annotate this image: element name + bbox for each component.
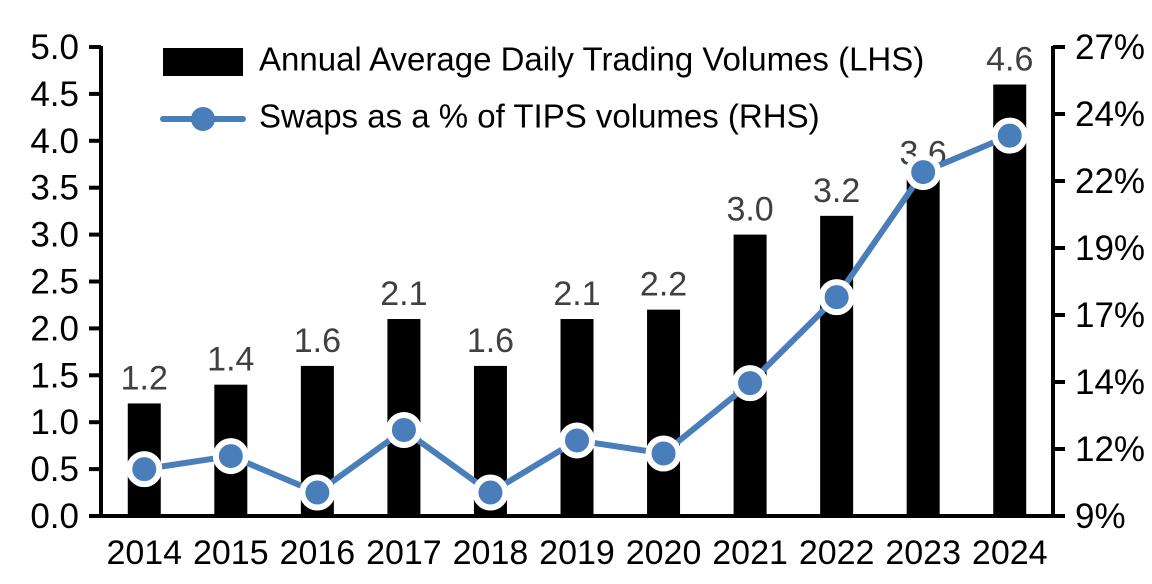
bar-value-label: 2.1 <box>553 275 600 313</box>
legend-item: Annual Average Daily Trading Volumes (LH… <box>163 41 924 78</box>
legend-item-label: Swaps as a % of TIPS volumes (RHS) <box>259 98 820 135</box>
bar <box>907 178 940 516</box>
category-axis-label: 2021 <box>712 534 788 572</box>
left-axis-tick-label: 0.0 <box>30 497 79 536</box>
left-axis-tick-label: 5.0 <box>30 28 79 67</box>
category-axis-label: 2023 <box>885 534 961 572</box>
bar-value-label: 3.0 <box>726 191 773 229</box>
line-marker <box>216 441 246 471</box>
line-marker <box>475 478 505 508</box>
category-axis-label: 2017 <box>366 534 442 572</box>
category-axis-label: 2014 <box>106 534 182 572</box>
bar-value-label: 4.6 <box>986 41 1033 79</box>
bar-value-label: 2.1 <box>380 275 427 313</box>
bar-value-label: 1.6 <box>467 322 514 360</box>
category-axis-label: 2024 <box>972 534 1048 572</box>
bar-value-label: 1.4 <box>207 341 254 379</box>
legend-item-label: Annual Average Daily Trading Volumes (LH… <box>259 41 924 78</box>
right-axis-tick-label: 19% <box>1075 229 1145 268</box>
line-marker <box>129 454 159 484</box>
category-axis-label: 2018 <box>453 534 529 572</box>
left-axis-tick-label: 2.0 <box>30 309 79 348</box>
right-axis-tick-label: 24% <box>1075 95 1145 134</box>
category-axis-label: 2016 <box>280 534 356 572</box>
right-axis-tick-label: 12% <box>1075 430 1145 469</box>
bar <box>820 216 853 516</box>
right-axis-tick-label: 14% <box>1075 363 1145 402</box>
left-axis-tick-label: 3.5 <box>30 169 79 208</box>
line-marker <box>302 478 332 508</box>
chart-container: 0.00.51.01.52.02.53.03.54.04.55.0 9%12%1… <box>0 0 1152 584</box>
line-marker <box>822 282 852 312</box>
category-axis-label: 2019 <box>539 534 615 572</box>
line-marker <box>649 438 679 468</box>
left-value-axis: 0.00.51.01.52.02.53.03.54.04.55.0 <box>30 28 101 536</box>
bar <box>647 310 680 516</box>
category-axis-labels: 2014201520162017201820192020202120222023… <box>106 534 1047 572</box>
right-axis-tick-label: 22% <box>1075 162 1145 201</box>
category-axis-label: 2020 <box>626 534 702 572</box>
right-axis-tick-label: 9% <box>1075 497 1126 536</box>
left-axis-tick-label: 2.5 <box>30 263 79 302</box>
bar-value-label: 1.6 <box>294 322 341 360</box>
chart-legend: Annual Average Daily Trading Volumes (LH… <box>163 41 924 135</box>
left-axis-tick-label: 3.0 <box>30 216 79 255</box>
left-axis-tick-label: 1.0 <box>30 403 79 442</box>
right-axis-tick-label: 17% <box>1075 296 1145 335</box>
category-axis-label: 2022 <box>799 534 875 572</box>
category-axis-label: 2015 <box>193 534 269 572</box>
line-marker <box>995 121 1025 151</box>
legend-item: Swaps as a % of TIPS volumes (RHS) <box>163 98 820 135</box>
line-marker <box>735 368 765 398</box>
left-axis-tick-label: 4.5 <box>30 75 79 114</box>
bar-value-label: 2.2 <box>640 266 687 304</box>
left-axis-tick-label: 1.5 <box>30 356 79 395</box>
line-marker <box>389 415 419 445</box>
bar-value-label: 1.2 <box>121 359 168 397</box>
line-series-markers <box>129 121 1024 508</box>
right-axis-tick-label: 27% <box>1075 28 1145 67</box>
dual-axis-bar-line-chart: 0.00.51.01.52.02.53.03.54.04.55.0 9%12%1… <box>0 0 1152 584</box>
line-marker <box>562 425 592 455</box>
line-marker <box>908 157 938 187</box>
left-axis-tick-label: 4.0 <box>30 122 79 161</box>
bar <box>561 319 594 516</box>
left-axis-tick-label: 0.5 <box>30 450 79 489</box>
bar-value-label: 3.2 <box>813 172 860 210</box>
legend-marker-icon <box>191 107 215 131</box>
legend-bar-swatch-icon <box>163 48 243 76</box>
